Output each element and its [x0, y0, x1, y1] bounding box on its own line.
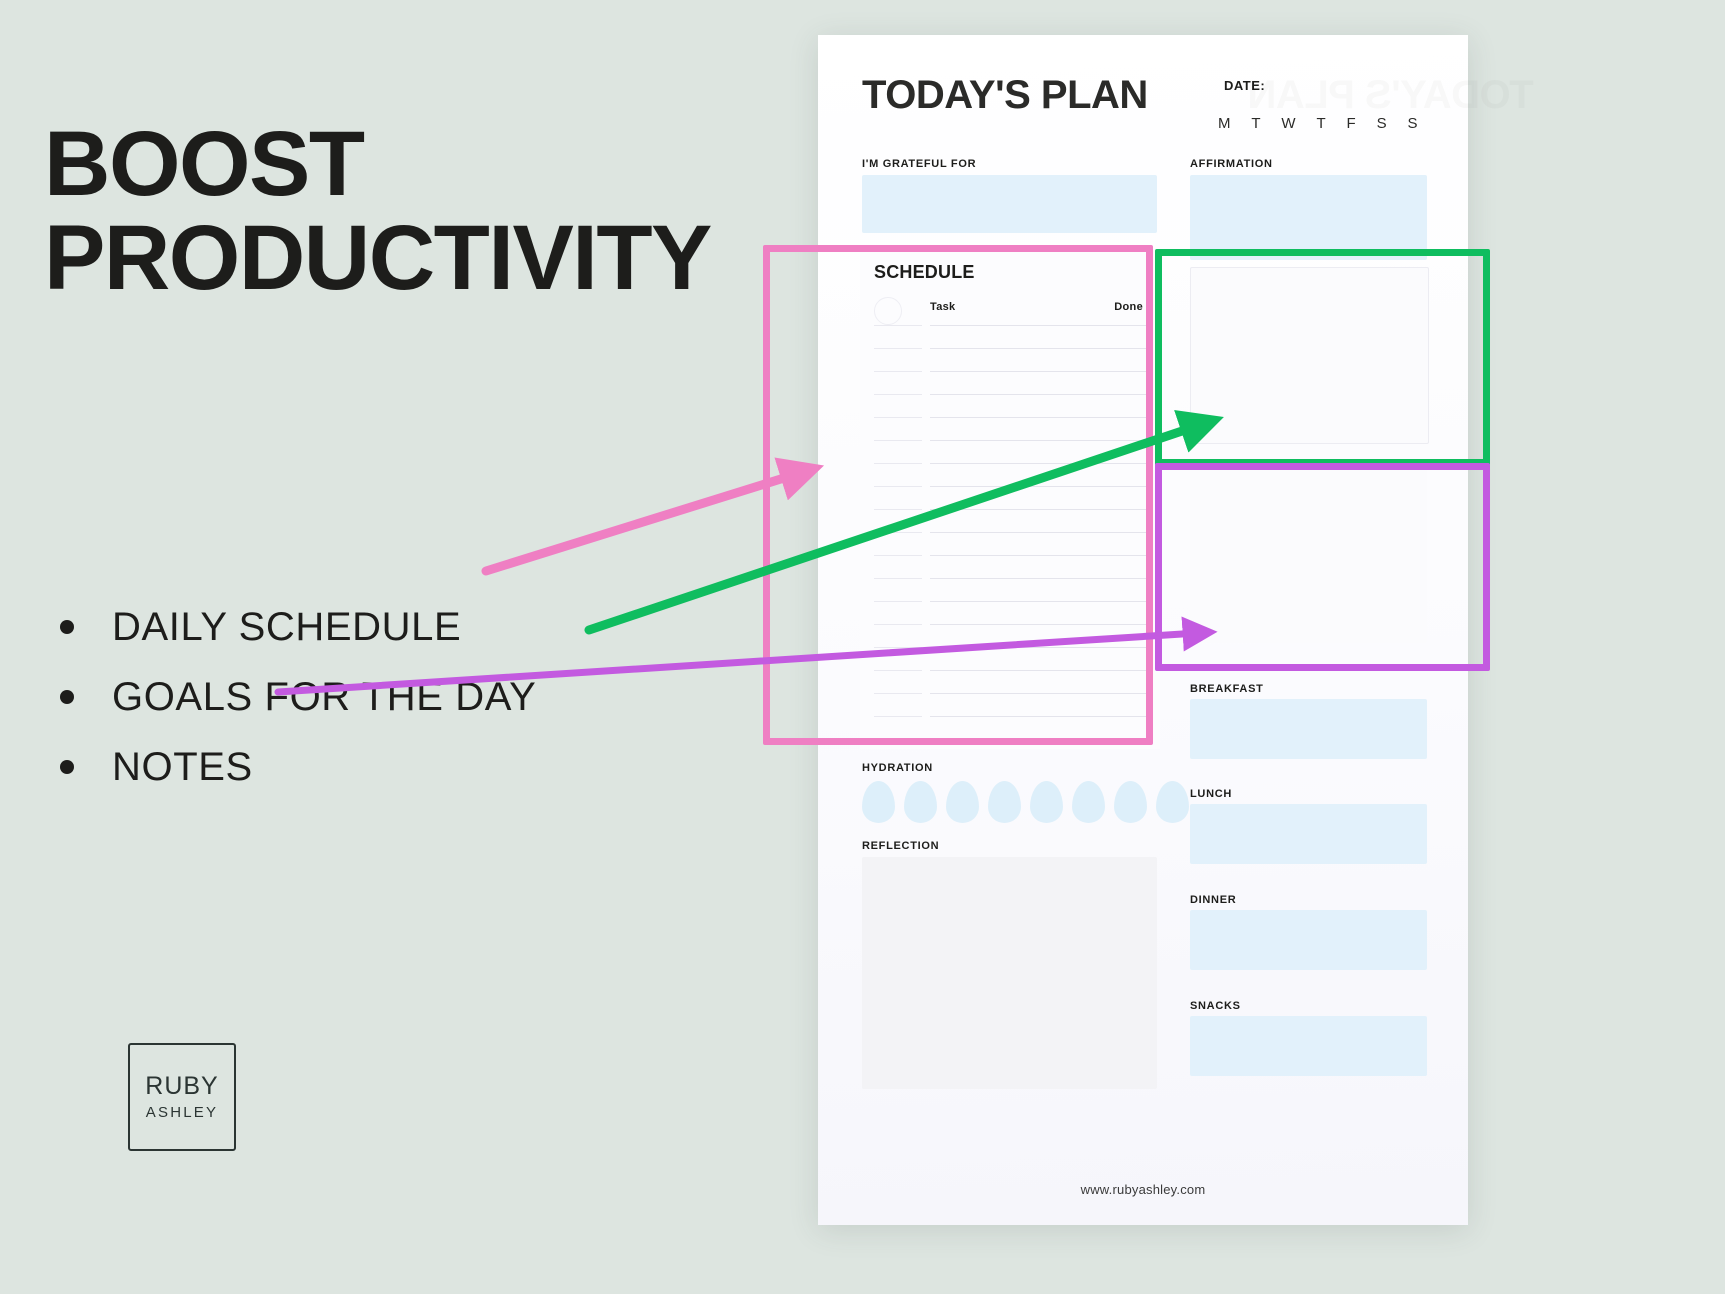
- water-drop-icon[interactable]: [1114, 781, 1147, 823]
- breakfast-label: BREAKFAST: [1190, 683, 1264, 695]
- page-title: TODAY'S PLAN: [862, 73, 1148, 118]
- dinner-input[interactable]: [1190, 910, 1427, 970]
- brand-logo: RUBY ASHLEY: [128, 1043, 236, 1151]
- reflection-label: REFLECTION: [862, 840, 939, 852]
- highlight-box-todo: [1155, 249, 1490, 466]
- logo-word-ashley: ASHLEY: [146, 1105, 218, 1120]
- bullet-label-goals: GOALS FOR THE DAY: [112, 675, 536, 720]
- water-drop-icon[interactable]: [988, 781, 1021, 823]
- logo-word-ruby: RUBY: [145, 1074, 218, 1099]
- hydration-tracker[interactable]: [862, 781, 1189, 823]
- bullet-label-notes: NOTES: [112, 745, 253, 790]
- highlight-box-notes: [1155, 463, 1490, 671]
- water-drop-icon[interactable]: [862, 781, 895, 823]
- promo-headline-line2: PRODUCTIVITY: [44, 212, 804, 306]
- breakfast-input[interactable]: [1190, 699, 1427, 759]
- bullet-dot-icon: [60, 620, 74, 634]
- day-tuesday[interactable]: T: [1251, 115, 1261, 132]
- lunch-label: LUNCH: [1190, 788, 1232, 800]
- grateful-input[interactable]: [862, 175, 1157, 233]
- snacks-label: SNACKS: [1190, 1000, 1241, 1012]
- dinner-label: DINNER: [1190, 894, 1236, 906]
- ghost-title-watermark: TODAY'S PLAN: [1248, 73, 1534, 118]
- day-monday[interactable]: M: [1218, 115, 1231, 132]
- promo-panel: BOOST PRODUCTIVITY DAILY SCHEDULE GOALS …: [0, 0, 820, 1294]
- day-friday[interactable]: F: [1347, 115, 1357, 132]
- promo-headline: BOOST PRODUCTIVITY: [44, 118, 804, 306]
- date-label: DATE:: [1224, 78, 1265, 93]
- water-drop-icon[interactable]: [1072, 781, 1105, 823]
- reflection-input[interactable]: [862, 857, 1157, 1089]
- affirmation-input[interactable]: [1190, 175, 1427, 260]
- day-wednesday[interactable]: W: [1281, 115, 1296, 132]
- affirmation-label: AFFIRMATION: [1190, 158, 1273, 170]
- lunch-input[interactable]: [1190, 804, 1427, 864]
- bullet-dot-icon: [60, 760, 74, 774]
- day-sunday[interactable]: S: [1407, 115, 1418, 132]
- feature-bullet-list: DAILY SCHEDULE GOALS FOR THE DAY NOTES: [60, 592, 760, 802]
- day-of-week-selector[interactable]: M T W T F S S: [1218, 115, 1418, 132]
- water-drop-icon[interactable]: [1156, 781, 1189, 823]
- snacks-input[interactable]: [1190, 1016, 1427, 1076]
- bullet-label-daily-schedule: DAILY SCHEDULE: [112, 605, 461, 650]
- water-drop-icon[interactable]: [904, 781, 937, 823]
- day-saturday[interactable]: S: [1377, 115, 1388, 132]
- water-drop-icon[interactable]: [1030, 781, 1063, 823]
- grateful-label: I'M GRATEFUL FOR: [862, 158, 976, 170]
- water-drop-icon[interactable]: [946, 781, 979, 823]
- list-item: GOALS FOR THE DAY: [60, 662, 760, 732]
- list-item: NOTES: [60, 732, 760, 802]
- day-thursday[interactable]: T: [1316, 115, 1326, 132]
- promo-headline-line1: BOOST: [44, 113, 364, 215]
- highlight-box-schedule: [763, 245, 1153, 745]
- footer-url: www.rubyashley.com: [818, 1182, 1468, 1197]
- list-item: DAILY SCHEDULE: [60, 592, 760, 662]
- bullet-dot-icon: [60, 690, 74, 704]
- hydration-label: HYDRATION: [862, 762, 933, 774]
